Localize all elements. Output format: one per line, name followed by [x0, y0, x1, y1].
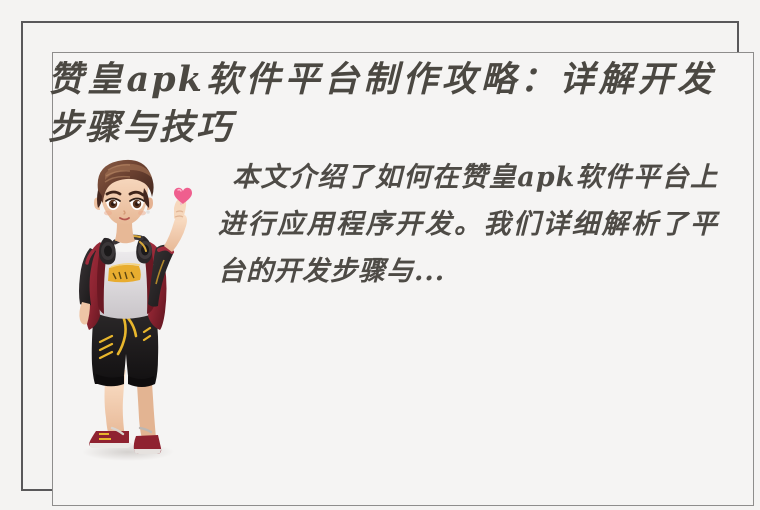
article-card-page: 赞皇apk软件平台制作攻略：详解开发步骤与技巧 — [0, 0, 760, 510]
card-content: 赞皇apk软件平台制作攻略：详解开发步骤与技巧 — [30, 30, 730, 482]
character-neck — [115, 222, 135, 243]
article-excerpt: 本文介绍了如何在赞皇apk软件平台上进行应用程序开发。我们详细解析了平台的开发步… — [218, 154, 718, 295]
character-earring — [146, 210, 150, 214]
character-blush-right — [138, 211, 146, 216]
character-left-shoe — [89, 428, 131, 448]
article-body-row: 本文介绍了如何在赞皇apk软件平台上进行应用程序开发。我们详细解析了平台的开发步… — [30, 154, 730, 482]
article-title: 赞皇apk软件平台制作攻略：详解开发步骤与技巧 — [48, 56, 714, 152]
tshirt-graphic-print — [108, 264, 141, 282]
anime-boy-character-illustration — [60, 156, 200, 466]
character-blush-left — [104, 211, 112, 216]
